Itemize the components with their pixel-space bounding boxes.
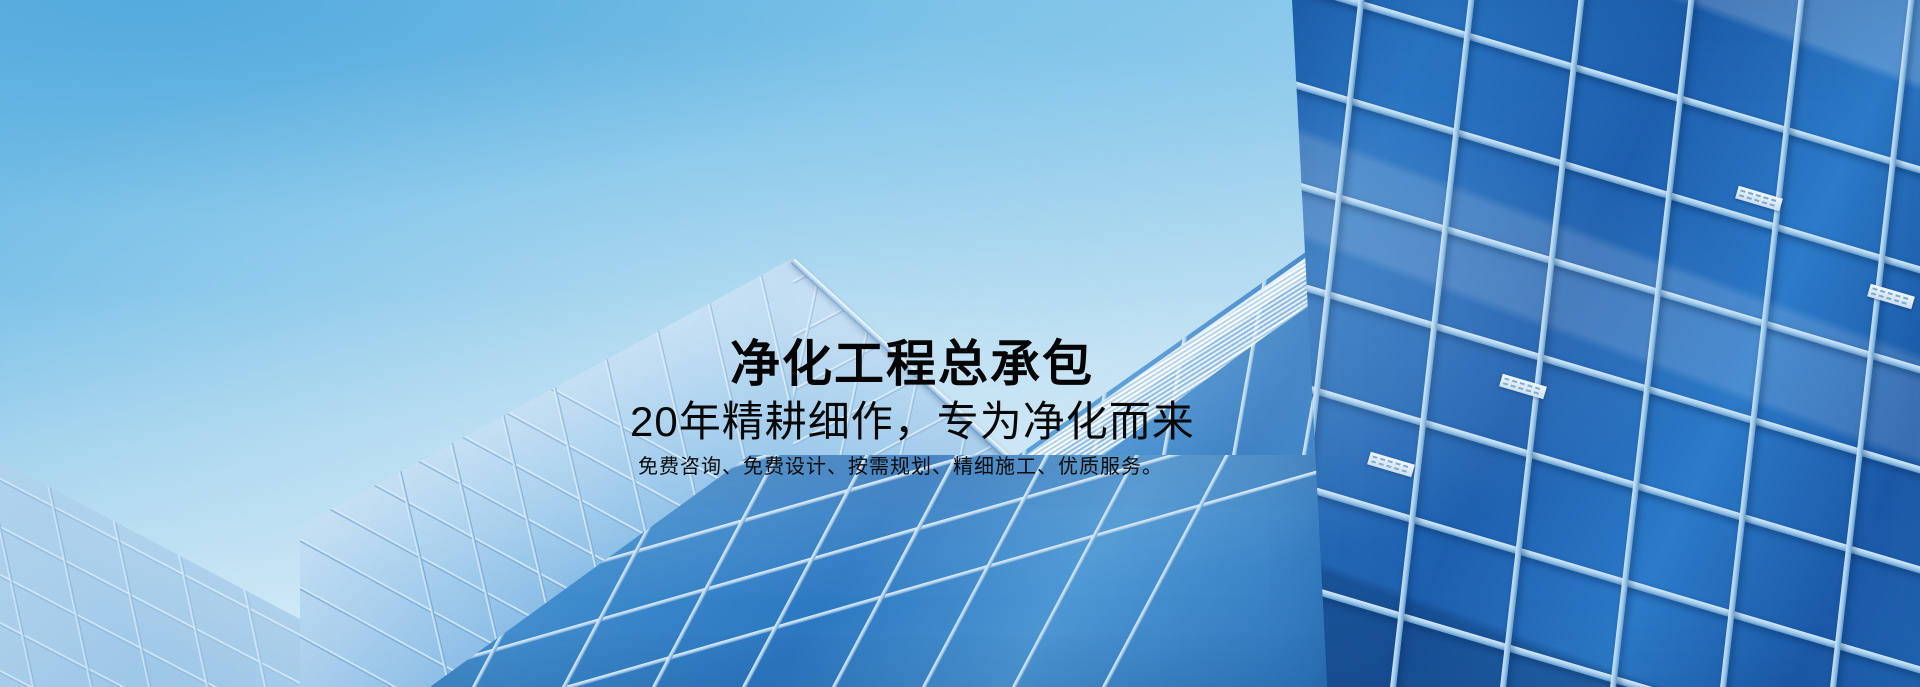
hero-headline: 净化工程总承包 — [730, 338, 1330, 391]
hero-tagline: 免费咨询、免费设计、按需规划、精细施工、优质服务。 — [638, 455, 1330, 479]
hero-subheadline: 20年精耕细作，专为净化而来 — [630, 399, 1330, 445]
hero-banner: 净化工程总承包 20年精耕细作，专为净化而来 免费咨询、免费设计、按需规划、精细… — [0, 0, 1920, 687]
right-glass-tower — [1268, 0, 1920, 687]
hero-copy-block: 净化工程总承包 20年精耕细作，专为净化而来 免费咨询、免费设计、按需规划、精细… — [630, 338, 1330, 479]
